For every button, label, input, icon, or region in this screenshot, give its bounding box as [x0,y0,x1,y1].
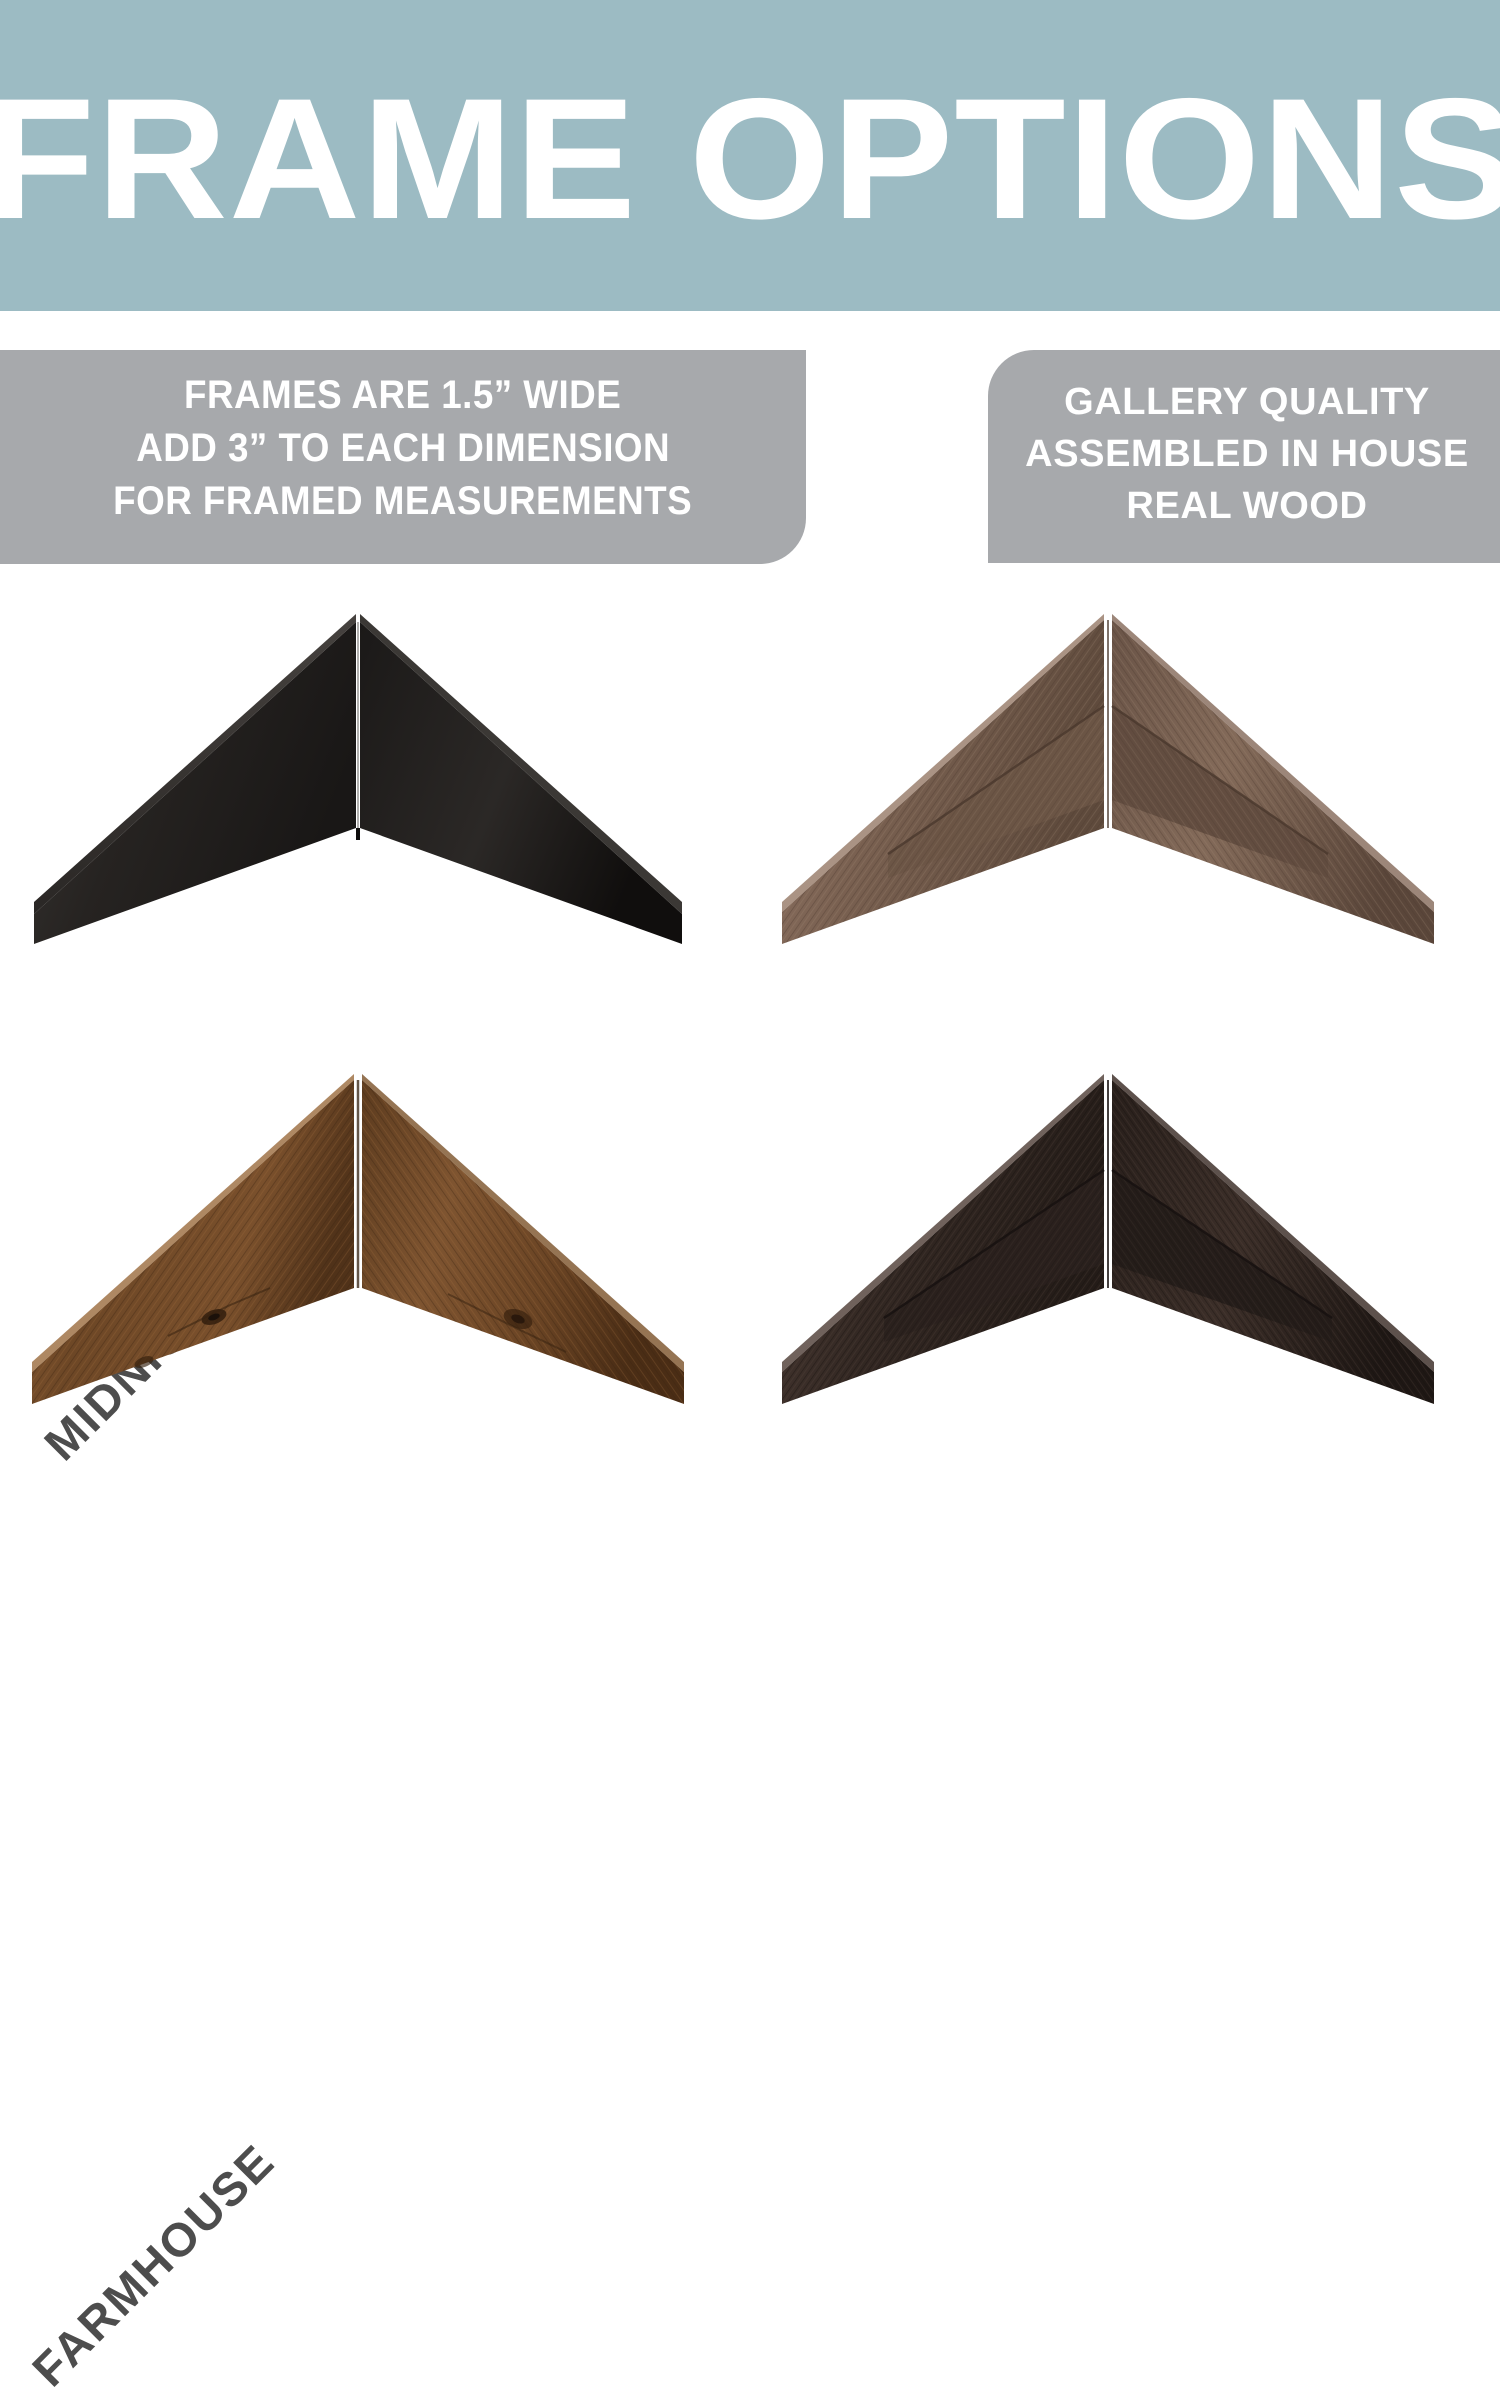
frame-corner-icon [18,614,688,944]
frame-quality-line-2: ASSEMBLED IN HOUSE [1025,428,1469,480]
frame-corner-icon [768,614,1438,944]
frame-quality-line-3: REAL WOOD [1126,480,1367,532]
frame-option-driftwood[interactable]: DRIFTWOOD [750,580,1500,1040]
page-title: FRAME OPTIONS [0,67,1500,245]
frame-quality-line-1: GALLERY QUALITY [1064,376,1430,428]
frame-sizing-line-1: FRAMES ARE 1.5” WIDE [184,369,621,422]
frame-sizing-info-box: FRAMES ARE 1.5” WIDE ADD 3” TO EACH DIME… [0,350,806,564]
frame-option-charcoal[interactable]: CHARCOAL [750,1040,1500,1500]
frame-label-farmhouse: FARMHOUSE [21,2133,285,2397]
frame-quality-info-box: GALLERY QUALITY ASSEMBLED IN HOUSE REAL … [988,350,1500,563]
frame-option-midnight[interactable]: MIDNIGHT [0,580,750,1040]
frame-options-grid: MIDNIGHT [0,580,1500,1500]
header-banner: FRAME OPTIONS [0,0,1500,311]
frame-sizing-line-3: FOR FRAMED MEASUREMENTS [114,475,693,528]
frame-corner-icon [18,1074,688,1404]
frame-sizing-line-2: ADD 3” TO EACH DIMENSION [136,422,670,475]
frame-corner-icon [768,1074,1438,1404]
frame-option-farmhouse[interactable]: FARMHOUSE [0,1040,750,1500]
frame-quality-info-lines: GALLERY QUALITY ASSEMBLED IN HOUSE REAL … [1025,376,1500,538]
frame-sizing-info-lines: FRAMES ARE 1.5” WIDE ADD 3” TO EACH DIME… [68,369,717,546]
